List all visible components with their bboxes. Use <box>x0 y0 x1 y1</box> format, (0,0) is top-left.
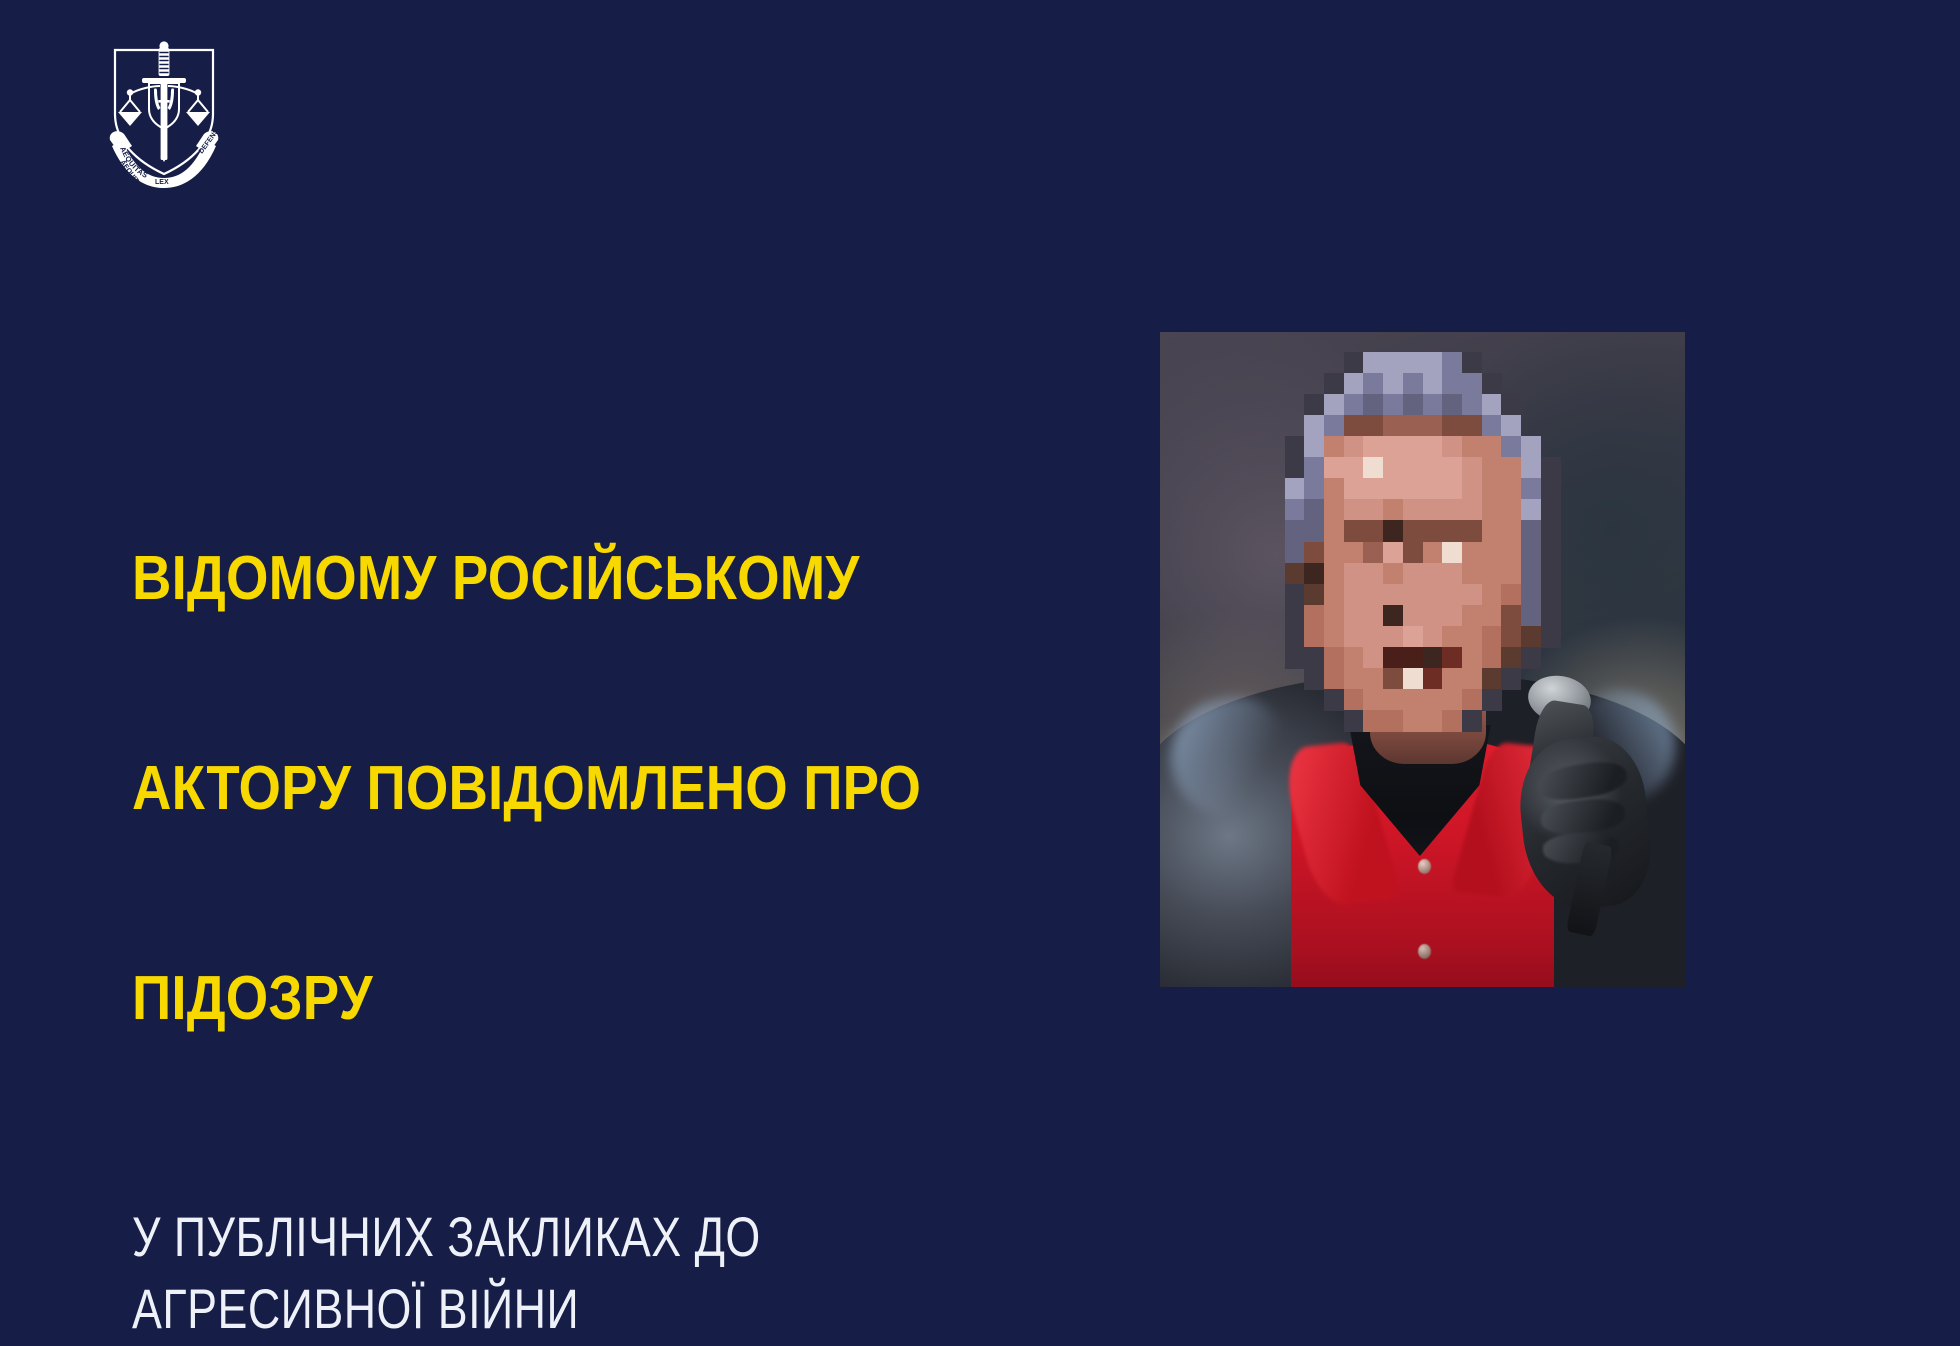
headline-line-3: ПІДОЗРУ <box>132 964 942 1034</box>
subheadline-line-2: АГРЕСИВНОЇ ВІЙНИ <box>132 1273 868 1346</box>
tryzub-icon <box>154 88 174 122</box>
headline: ВІДОМОМУ РОСІЙСЬКОМУ АКТОРУ ПОВІДОМЛЕНО … <box>132 404 942 1175</box>
subheadline-line-1: У ПУБЛІЧНИХ ЗАКЛИКАХ ДО <box>132 1201 868 1274</box>
emblem-ribbon-text-center: LEX <box>155 179 169 186</box>
headline-line-2: АКТОРУ ПОВІДОМЛЕНО ПРО <box>132 754 942 824</box>
subject-photo <box>1160 332 1685 987</box>
poster-canvas: AEQUITAS AEQUITAS LEX DEFENSIO ВІДОМОМУ … <box>0 0 1960 1320</box>
headline-line-1: ВІДОМОМУ РОСІЙСЬКОМУ <box>132 544 942 614</box>
subheadline: У ПУБЛІЧНИХ ЗАКЛИКАХ ДО АГРЕСИВНОЇ ВІЙНИ <box>132 1201 868 1346</box>
pixelated-face <box>1265 352 1580 732</box>
poster-text-block: ВІДОМОМУ РОСІЙСЬКОМУ АКТОРУ ПОВІДОМЛЕНО … <box>132 404 1052 1346</box>
prosecutor-general-emblem: AEQUITAS AEQUITAS LEX DEFENSIO <box>102 36 226 188</box>
